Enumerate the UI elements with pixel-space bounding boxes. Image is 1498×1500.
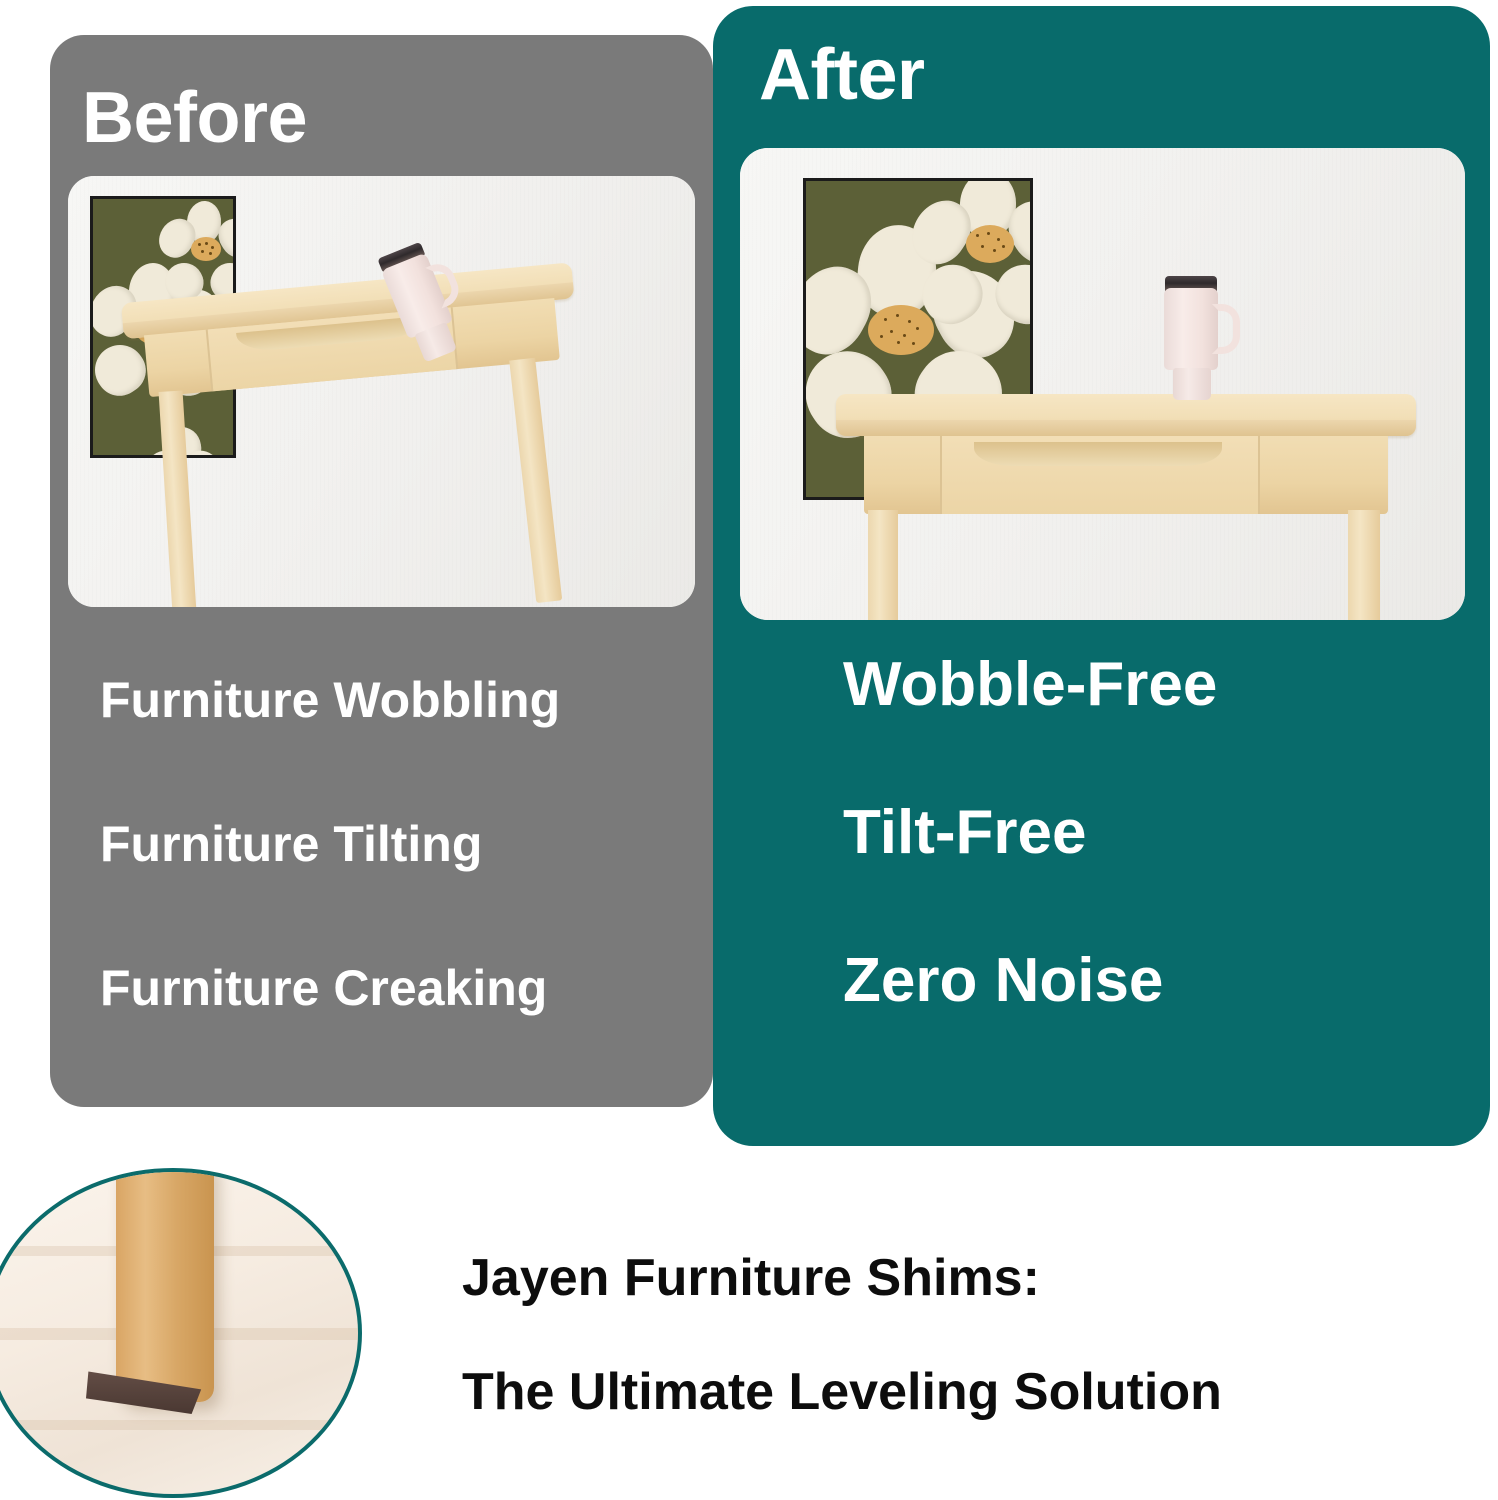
- before-bullet-1: Furniture Wobbling: [100, 675, 713, 725]
- after-panel: After: [713, 6, 1490, 1146]
- table-leg-right: [509, 358, 562, 603]
- after-bullet-3: Zero Noise: [843, 950, 1483, 1012]
- caption-line-2: The Ultimate Leveling Solution: [462, 1366, 1472, 1418]
- level-table: [820, 394, 1450, 620]
- after-bullet-1: Wobble-Free: [843, 654, 1483, 716]
- tumbler-after: [1164, 276, 1246, 402]
- after-bullet-2: Tilt-Free: [843, 802, 1483, 864]
- before-heading: Before: [82, 77, 307, 159]
- tilted-table: [111, 256, 667, 607]
- table-leg-left: [159, 390, 198, 607]
- before-bullet-list: Furniture Wobbling Furniture Tilting Fur…: [100, 675, 713, 1107]
- closeup-circle-frame: [0, 1168, 362, 1498]
- after-photo-card: [740, 148, 1465, 620]
- after-heading: After: [759, 34, 925, 116]
- daisy-small: [910, 181, 1030, 333]
- table-leg-closeup: [116, 1168, 214, 1402]
- before-bullet-3: Furniture Creaking: [100, 963, 713, 1013]
- before-bullet-2: Furniture Tilting: [100, 819, 713, 869]
- table-leg-right: [1348, 510, 1380, 620]
- before-photo-card: [68, 176, 695, 607]
- product-caption: Jayen Furniture Shims: The Ultimate Leve…: [462, 1252, 1472, 1418]
- after-bullet-list: Wobble-Free Tilt-Free Zero Noise: [843, 654, 1483, 1098]
- closeup-photo: [0, 1168, 362, 1498]
- drawer-pull: [974, 442, 1222, 466]
- table-leg-left: [868, 510, 898, 620]
- caption-line-1: Jayen Furniture Shims:: [462, 1252, 1472, 1304]
- before-panel: Before: [50, 35, 713, 1107]
- floor-plank-line: [0, 1420, 362, 1430]
- promo-graphic: Before: [0, 0, 1498, 1500]
